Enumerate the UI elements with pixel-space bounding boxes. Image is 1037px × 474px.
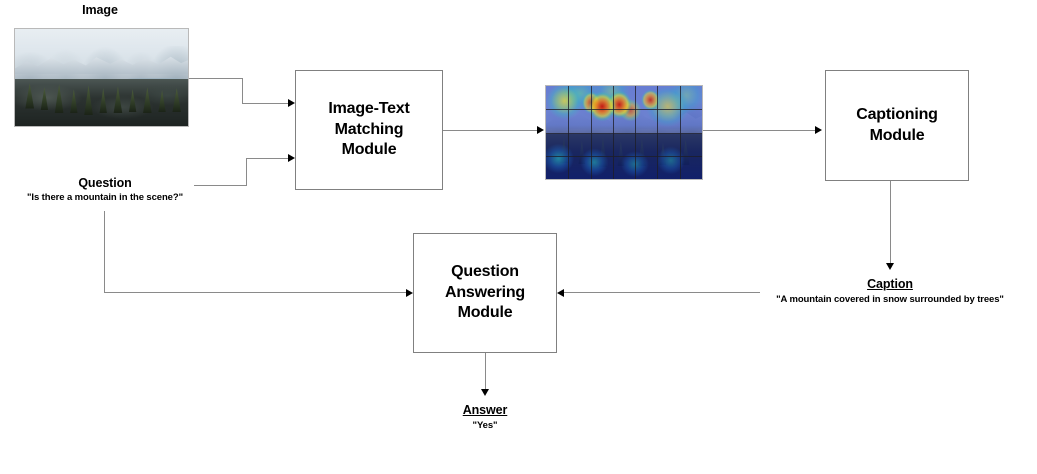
edge-image-to-itm-v [242, 78, 243, 103]
edge-captioning-to-caption [890, 181, 891, 263]
question-answering-module-label: Question Answering Module [445, 262, 525, 324]
edge-question-to-itm-h1 [194, 185, 246, 186]
edge-itm-to-heatmap-arrowhead [537, 126, 544, 134]
edge-question-to-itm-h2 [246, 158, 288, 159]
edge-heatmap-to-captioning-arrowhead [815, 126, 822, 134]
edge-captioning-to-caption-arrowhead [886, 263, 894, 270]
image-text-matching-module-label: Image-Text Matching Module [328, 99, 409, 161]
answer-label: Answer [425, 403, 545, 417]
question-label: Question [18, 176, 192, 190]
edge-question-to-qa-v [104, 211, 105, 293]
edge-image-to-itm-h2 [242, 103, 288, 104]
image-text-matching-module[interactable]: Image-Text Matching Module [295, 70, 443, 190]
edge-image-to-itm-h1 [189, 78, 242, 79]
input-image-thumbnail [14, 28, 189, 127]
diagram-canvas: Image Question "Is there a mountain in t [0, 0, 1037, 474]
edge-question-to-itm-v [246, 158, 247, 186]
answer-text: "Yes" [425, 420, 545, 431]
question-text: "Is there a mountain in the scene?" [5, 192, 205, 203]
edge-itm-to-heatmap [443, 130, 537, 131]
edge-image-to-itm-arrowhead [288, 99, 295, 107]
captioning-module-label: Captioning Module [856, 105, 938, 147]
caption-text: "A mountain covered in snow surrounded b… [760, 294, 1020, 305]
edge-question-to-qa-arrowhead [406, 289, 413, 297]
edge-qa-to-answer [485, 353, 486, 389]
edge-qa-to-answer-arrowhead [481, 389, 489, 396]
landscape-scene [15, 29, 188, 126]
edge-caption-to-qa [564, 292, 760, 293]
edge-heatmap-to-captioning [703, 130, 815, 131]
question-answering-module[interactable]: Question Answering Module [413, 233, 557, 353]
attention-heatmap-thumbnail [545, 85, 703, 180]
heatmap-scene [546, 86, 702, 179]
edge-question-to-itm-arrowhead [288, 154, 295, 162]
captioning-module[interactable]: Captioning Module [825, 70, 969, 181]
edge-question-to-qa-h [104, 292, 406, 293]
image-label: Image [40, 3, 160, 17]
patch-grid-overlay [546, 86, 702, 179]
edge-caption-to-qa-arrowhead [557, 289, 564, 297]
caption-label: Caption [830, 277, 950, 291]
